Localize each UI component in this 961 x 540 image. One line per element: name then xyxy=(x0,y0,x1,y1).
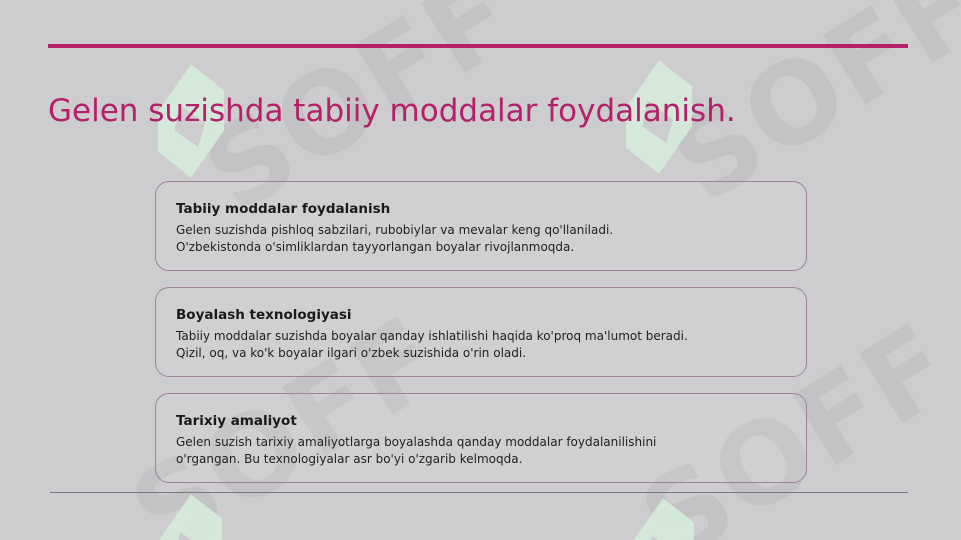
bottom-rule xyxy=(50,492,908,493)
content-card[interactable]: Tabiiy moddalar foydalanish Gelen suzish… xyxy=(155,181,807,271)
content-card-title: Tabiiy moddalar foydalanish xyxy=(176,200,786,218)
content-card-line: Gelen suzishda pishloq sabzilari, rubobi… xyxy=(176,222,786,239)
content-card-list: Tabiiy moddalar foydalanish Gelen suzish… xyxy=(155,181,807,483)
content-card[interactable]: Boyalash texnologiyasi Tabiiy moddalar s… xyxy=(155,287,807,377)
content-card-line: O'zbekistonda o'simliklardan tayyorlanga… xyxy=(176,239,786,256)
watermark-logo-icon xyxy=(608,496,718,540)
content-card-line: Qizil, oq, va ko'k boyalar ilgari o'zbek… xyxy=(176,345,786,362)
content-card-line: o'rgangan. Bu texnologiyalar asr bo'yi o… xyxy=(176,451,786,468)
content-card-title: Boyalash texnologiyasi xyxy=(176,306,786,324)
page-title: Gelen suzishda tabiiy moddalar foydalani… xyxy=(48,91,928,131)
content-card-line: Gelen suzish tarixiy amaliyotlarga boyal… xyxy=(176,434,786,451)
content-card-body: Gelen suzishda pishloq sabzilari, rubobi… xyxy=(176,222,786,256)
content-card-body: Tabiiy moddalar suzishda boyalar qanday … xyxy=(176,328,786,362)
presentation-slide: SOFF SOFF SOFF SOFF xyxy=(0,0,961,540)
content-card-body: Gelen suzish tarixiy amaliyotlarga boyal… xyxy=(176,434,786,468)
content-card[interactable]: Tarixiy amaliyot Gelen suzish tarixiy am… xyxy=(155,393,807,483)
top-accent-rule xyxy=(48,44,908,48)
content-card-line: Tabiiy moddalar suzishda boyalar qanday … xyxy=(176,328,786,345)
content-card-title: Tarixiy amaliyot xyxy=(176,412,786,430)
watermark-logo-icon xyxy=(136,492,246,540)
